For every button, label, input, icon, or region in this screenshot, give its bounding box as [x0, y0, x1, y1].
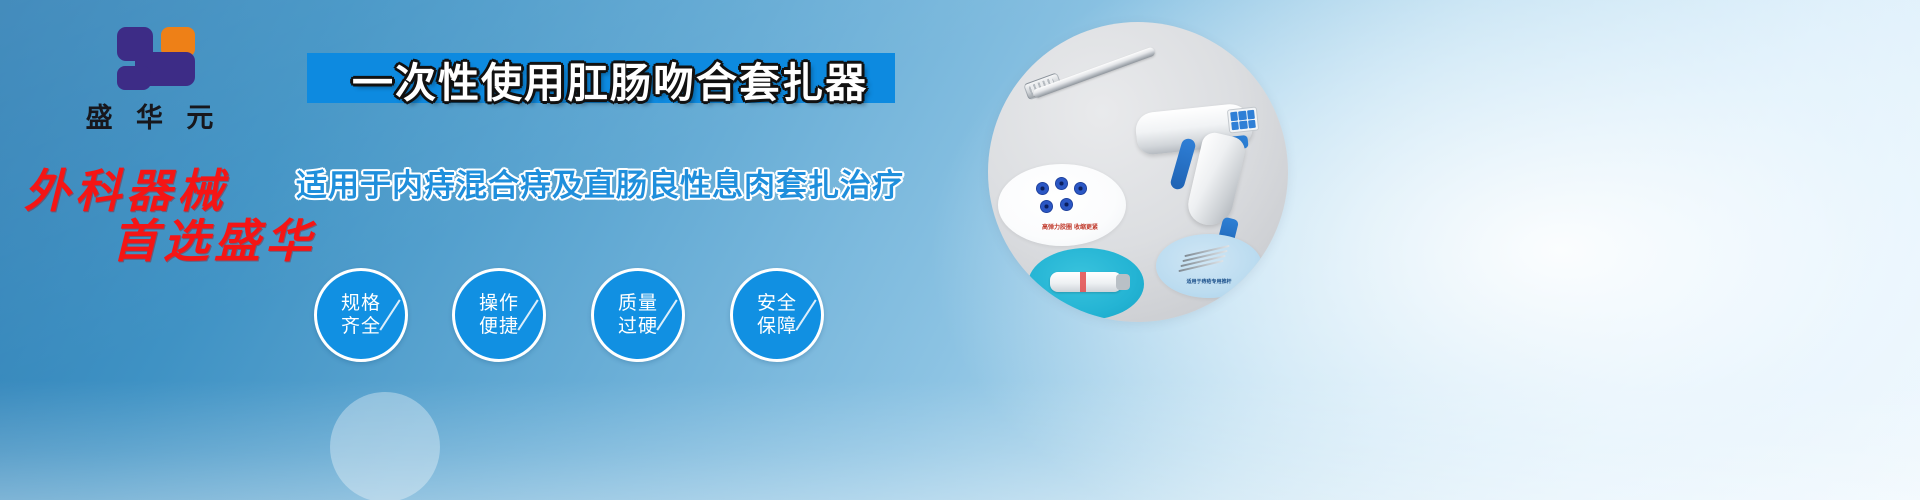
keypad-dot — [1239, 120, 1247, 129]
page-subtitle: 适用于内痔混合痔及直肠良性息肉套扎治疗 — [296, 160, 896, 205]
ligation-ring-icon — [1060, 198, 1073, 211]
feature-badge-line2: 保障 — [757, 315, 797, 338]
device-keypad-icon — [1227, 106, 1259, 133]
decorative-circle — [330, 392, 440, 500]
ligation-ring-icon — [1040, 200, 1053, 213]
keypad-dot — [1247, 110, 1255, 119]
feature-badge[interactable]: 规格 齐全 — [314, 268, 408, 362]
badge-slash-icon — [795, 299, 816, 330]
keypad-dot — [1238, 111, 1246, 120]
tube-body — [1050, 272, 1122, 292]
inset-rings-photo: 高弹力胶圈 收缩更紧 — [998, 164, 1126, 246]
feature-badge-line2: 过硬 — [618, 315, 658, 338]
ligation-ring-icon — [1036, 182, 1049, 195]
brand-name: 盛 华 元 — [62, 96, 237, 135]
bottom-fade — [0, 380, 1920, 500]
feature-badge[interactable]: 操作 便捷 — [452, 268, 546, 362]
inset-needles-photo: 适用于痔疮专用推杆 — [1156, 234, 1262, 298]
device-barrel — [1032, 46, 1155, 98]
inset-rings-caption: 高弹力胶圈 收缩更紧 — [1016, 222, 1124, 231]
tube-cap — [1116, 274, 1130, 290]
feature-badge-line2: 便捷 — [479, 315, 519, 338]
keypad-dot — [1230, 112, 1238, 121]
keypad-dot — [1231, 121, 1239, 130]
promo-banner: 盛 华 元 一次性使用肛肠吻合套扎器 适用于内痔混合痔及直肠良性息肉套扎治疗 外… — [0, 0, 1920, 500]
feature-badge-line1: 安全 — [757, 292, 797, 315]
slogan-line-2: 首选盛华 — [112, 205, 316, 271]
feature-badge-line2: 齐全 — [341, 315, 381, 338]
logo-shape-bottom-left — [117, 66, 151, 90]
feature-badge[interactable]: 安全 保障 — [730, 268, 824, 362]
product-photo[interactable]: 高弹力胶圈 收缩更紧 适用于痔疮专用推杆 — [988, 22, 1288, 322]
tube-band — [1080, 272, 1086, 292]
page-title: 一次性使用肛肠吻合套扎器 — [330, 50, 890, 108]
feature-badge[interactable]: 质量 过硬 — [591, 268, 685, 362]
brand-logo[interactable]: 盛 华 元 — [62, 24, 237, 135]
shenghuayuan-logo-icon — [105, 24, 195, 90]
badge-slash-icon — [656, 299, 677, 330]
inset-tube-photo — [1028, 248, 1144, 320]
inset-needles-caption: 适用于痔疮专用推杆 — [1162, 278, 1256, 285]
ligation-ring-icon — [1074, 182, 1087, 195]
feature-badge-line1: 规格 — [341, 292, 381, 315]
ligation-ring-icon — [1055, 177, 1068, 190]
feature-badge-line1: 质量 — [618, 292, 658, 315]
keypad-dot — [1248, 119, 1256, 128]
badge-slash-icon — [379, 299, 400, 330]
feature-badge-line1: 操作 — [479, 292, 519, 315]
badge-slash-icon — [517, 299, 538, 330]
feature-badge-list: 规格 齐全 操作 便捷 质量 过硬 安全 保障 — [310, 266, 870, 376]
